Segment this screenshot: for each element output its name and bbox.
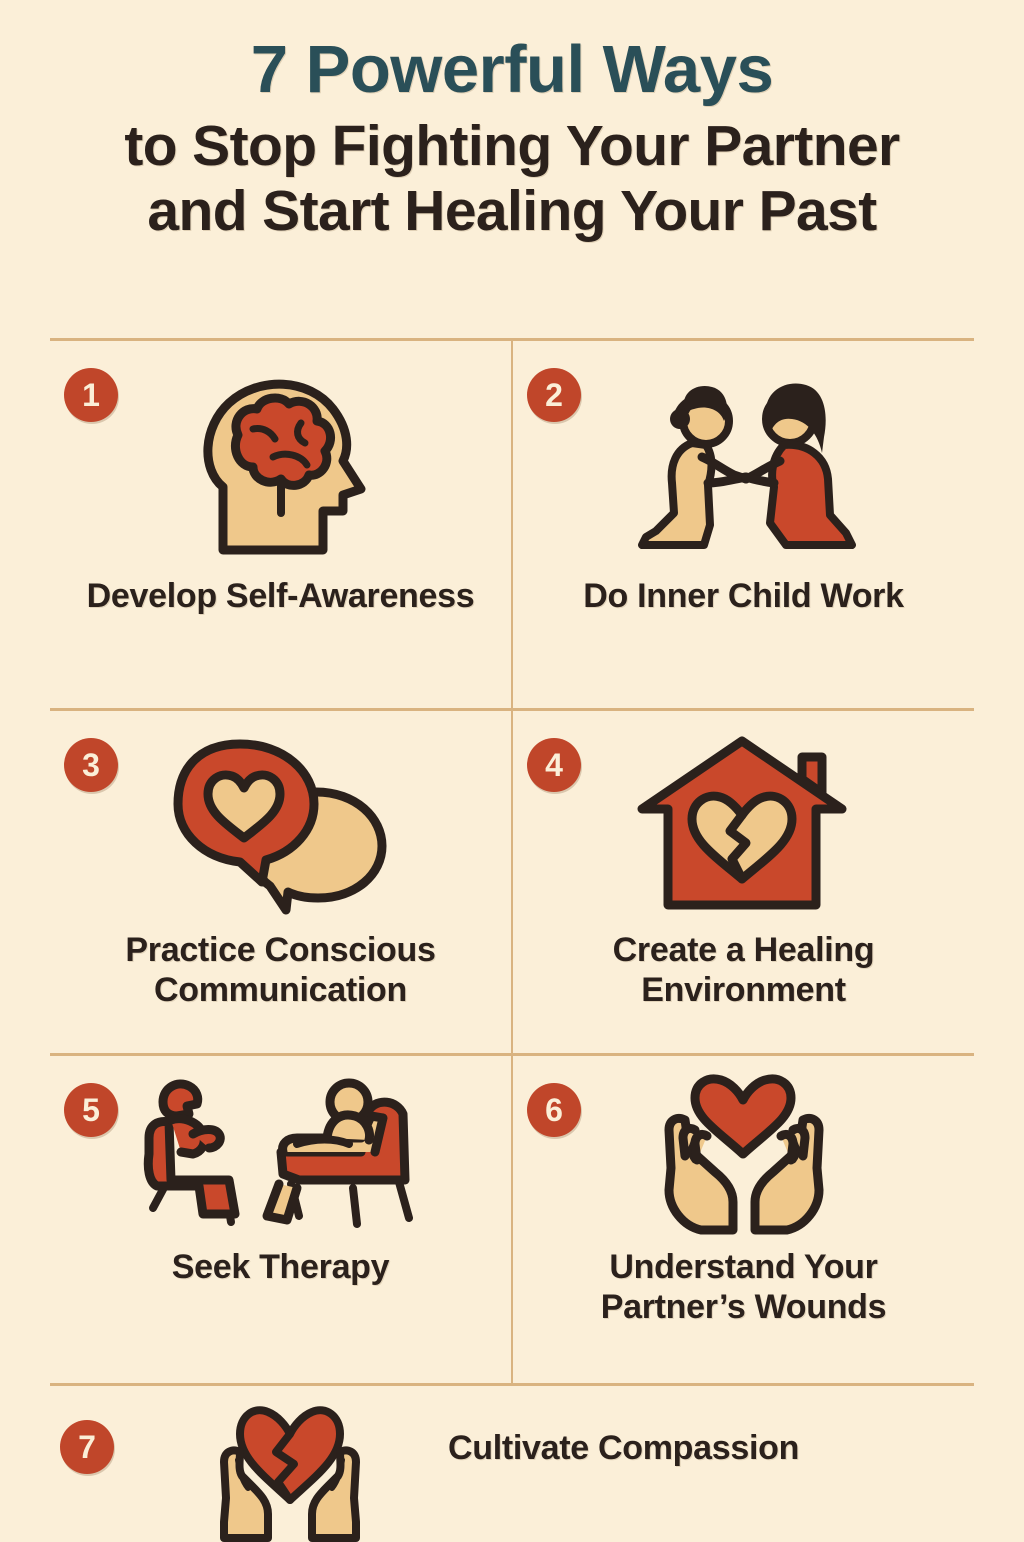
item-card-5[interactable]: 5 bbox=[50, 1059, 511, 1383]
head-brain-icon bbox=[181, 360, 381, 570]
hands-cracked-heart-icon bbox=[210, 1392, 370, 1542]
item-number-badge-3: 3 bbox=[64, 738, 118, 792]
item-number-badge-7: 7 bbox=[60, 1420, 114, 1474]
title-block: 7 Powerful Ways to Stop Fighting Your Pa… bbox=[0, 0, 1024, 244]
item-card-1[interactable]: 1 Develop Self-Awareness bbox=[50, 344, 511, 708]
page-title-line-2: to Stop Fighting Your Partner bbox=[40, 114, 984, 179]
page-title-line-1: 7 Powerful Ways bbox=[40, 34, 984, 106]
item-label-7: Cultivate Compassion bbox=[448, 1392, 799, 1468]
item-card-3[interactable]: 3 Practice Conscious Communication bbox=[50, 714, 511, 1053]
two-kneeling-figures-icon bbox=[594, 360, 894, 570]
item-number-badge-1: 1 bbox=[64, 368, 118, 422]
item-label-4: Create a Healing Environment bbox=[549, 930, 939, 1010]
therapy-chairs-icon bbox=[131, 1071, 431, 1241]
house-broken-heart-icon bbox=[634, 728, 854, 924]
hands-holding-heart-icon bbox=[639, 1071, 849, 1241]
item-label-5: Seek Therapy bbox=[172, 1247, 390, 1287]
item-number-badge-4: 4 bbox=[527, 738, 581, 792]
item-card-4[interactable]: 4 Create a Healing Environment bbox=[513, 714, 974, 1053]
item-label-6: Understand Your Partner’s Wounds bbox=[549, 1247, 939, 1327]
item-card-7[interactable]: 7 Cultivate Compassion bbox=[50, 1392, 974, 1536]
item-card-6[interactable]: 6 Understand Your Partn bbox=[513, 1059, 974, 1383]
speech-bubbles-heart-icon bbox=[166, 728, 396, 924]
item-label-1: Develop Self-Awareness bbox=[87, 576, 475, 616]
item-label-2: Do Inner Child Work bbox=[583, 576, 903, 616]
item-number-badge-5: 5 bbox=[64, 1083, 118, 1137]
page-title-line-3: and Start Healing Your Past bbox=[40, 179, 984, 244]
items-grid: 1 Develop Self-Awareness 2 bbox=[50, 338, 974, 1386]
item-number-badge-6: 6 bbox=[527, 1083, 581, 1137]
item-number-badge-2: 2 bbox=[527, 368, 581, 422]
item-card-2[interactable]: 2 bbox=[513, 344, 974, 708]
item-label-3: Practice Conscious Communication bbox=[86, 930, 476, 1010]
infographic-poster: 7 Powerful Ways to Stop Fighting Your Pa… bbox=[0, 0, 1024, 1536]
